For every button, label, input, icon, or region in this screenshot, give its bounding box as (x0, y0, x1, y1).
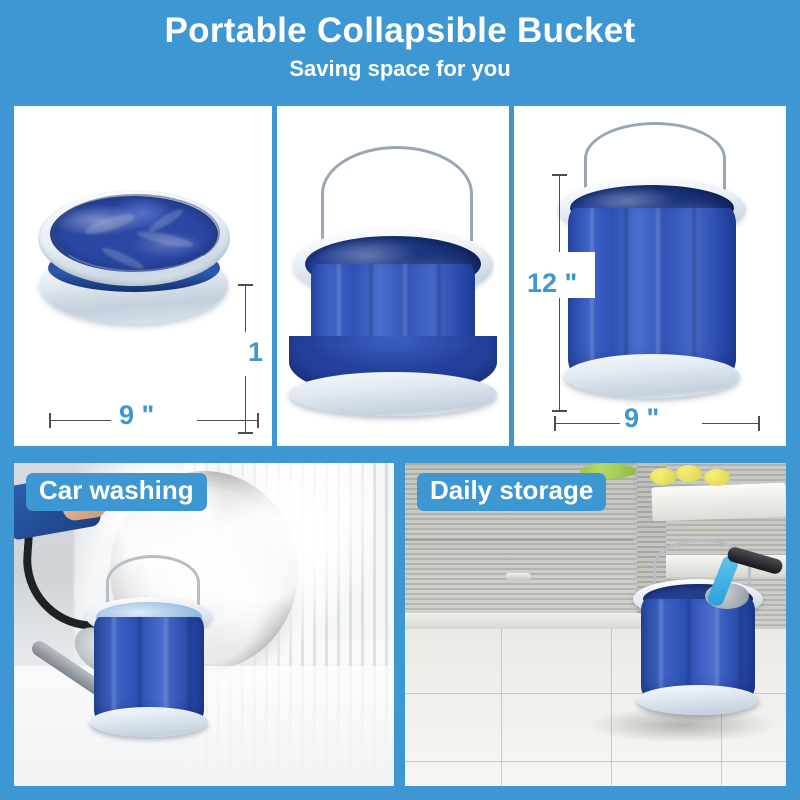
bucket-base-ring (90, 707, 208, 737)
countertop (651, 483, 786, 522)
drawer-handle (505, 573, 531, 580)
header: Portable Collapsible Bucket Saving space… (0, 0, 800, 104)
collapsed-bucket-image (38, 184, 230, 334)
use-case-car-washing: Car washing (14, 463, 394, 786)
lemons (650, 465, 746, 487)
bucket-in-use-car-wash (84, 555, 214, 743)
product-panel-partial (277, 106, 509, 446)
dimension-label-height-expanded: 12 " (527, 270, 577, 297)
product-panel-row: 1 " 9 " (14, 106, 786, 446)
use-case-badge-car-washing: Car washing (26, 473, 207, 511)
use-case-daily-storage: Daily storage (405, 463, 786, 786)
dimension-label-width-collapsed: 9 " (119, 402, 154, 429)
bucket-base-ring (637, 685, 759, 715)
dimension-label-height-collapsed: 1 " (248, 339, 272, 366)
bucket-handle (321, 146, 473, 241)
use-case-badge-daily-storage: Daily storage (417, 473, 606, 511)
page-subtitle: Saving space for you (0, 50, 800, 81)
dimension-label-width-expanded: 9 " (624, 405, 659, 432)
bucket-fabric-body (641, 599, 755, 697)
partial-bucket-image (285, 140, 501, 420)
product-panel-collapsed: 1 " 9 " (14, 106, 272, 446)
bucket-in-use-storage (631, 539, 765, 715)
product-infographic: Portable Collapsible Bucket Saving space… (0, 0, 800, 800)
bucket-rim-edge (52, 194, 220, 272)
car-washing-photo (14, 463, 394, 786)
page-title: Portable Collapsible Bucket (0, 0, 800, 50)
bucket-fabric-body (94, 617, 204, 721)
product-panel-expanded: 12 " 9 " (514, 106, 786, 446)
use-case-row: Car washing (14, 463, 786, 786)
dimension-line-height-1in (245, 284, 246, 434)
bucket-base-ring (289, 372, 497, 416)
daily-storage-photo (405, 463, 786, 786)
bucket-base-ring (564, 354, 740, 398)
